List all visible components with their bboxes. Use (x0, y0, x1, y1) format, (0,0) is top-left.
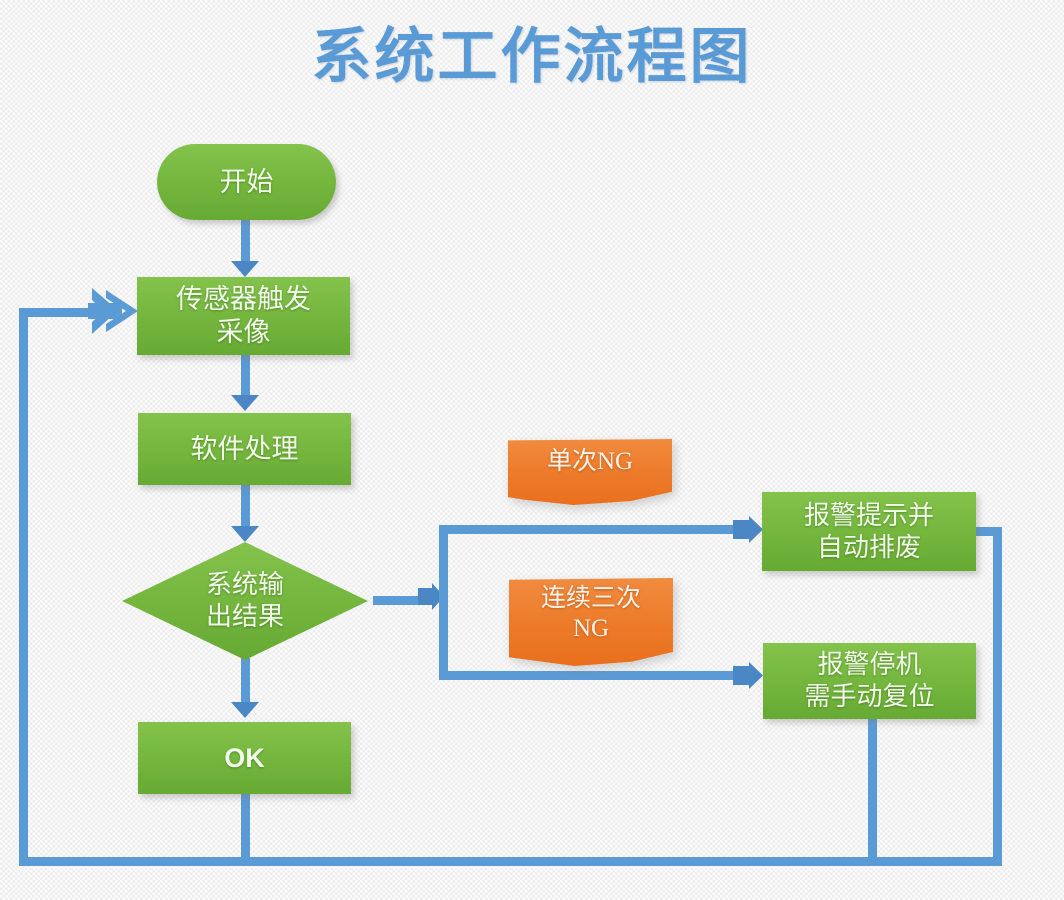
arrowhead-software-to-decision-icon (231, 526, 259, 542)
flowchart-canvas: 系统工作流程图 开始 (0, 0, 1064, 900)
arrowhead-start-to-sensor-icon (231, 261, 259, 277)
node-decision-system-output[interactable]: 系统输 出结果 (122, 542, 368, 660)
connector-decision-to-branch (373, 596, 423, 605)
banner-single-ng[interactable]: 单次NG (508, 439, 672, 505)
node-decision-label: 系统输 出结果 (122, 569, 368, 632)
arrowhead-branch-to-alarm-auto-icon (733, 516, 763, 543)
connector-branch-to-alarm-stop (439, 671, 749, 680)
connector-decision-to-ok (241, 658, 250, 704)
node-alarm-stop-manual-reset[interactable]: 报警停机 需手动复位 (763, 643, 976, 719)
page-title: 系统工作流程图 (0, 8, 1064, 95)
node-software-processing[interactable]: 软件处理 (138, 413, 351, 485)
connector-branch-splitter (439, 525, 448, 680)
node-software-processing-label: 软件处理 (138, 433, 351, 466)
node-start[interactable]: 开始 (157, 144, 336, 220)
arrowhead-decision-to-ok-icon (231, 702, 259, 718)
connector-software-to-decision (241, 485, 250, 528)
banner-triple-ng[interactable]: 连续三次 NG (509, 578, 673, 666)
node-ok-label: OK (138, 742, 351, 775)
connector-left-rail (19, 308, 28, 862)
node-sensor-trigger-label: 传感器触发 采像 (137, 283, 350, 349)
connector-start-to-sensor (241, 220, 250, 264)
node-alarm-auto-reject-label: 报警提示并 自动排废 (762, 500, 976, 563)
banner-triple-ng-label: 连续三次 NG (509, 578, 673, 644)
banner-single-ng-label: 单次NG (508, 439, 672, 477)
connector-alarm-stop-to-bottom-bus (868, 719, 877, 866)
connector-sensor-to-software (241, 355, 250, 397)
arrowhead-branch-to-alarm-stop-icon (733, 662, 763, 689)
node-alarm-auto-reject[interactable]: 报警提示并 自动排废 (762, 492, 976, 571)
connector-bottom-return-bus (19, 857, 1002, 866)
node-ok[interactable]: OK (138, 722, 351, 794)
connector-ok-to-bottom-bus (241, 794, 250, 866)
node-alarm-stop-manual-reset-label: 报警停机 需手动复位 (763, 649, 976, 712)
arrowhead-return-to-sensor-icon (88, 286, 140, 338)
arrowhead-sensor-to-software-icon (231, 395, 259, 411)
connector-right-rail (993, 527, 1002, 866)
node-sensor-trigger[interactable]: 传感器触发 采像 (137, 277, 350, 355)
node-start-label: 开始 (157, 166, 336, 199)
connector-branch-to-alarm-auto (439, 525, 749, 534)
